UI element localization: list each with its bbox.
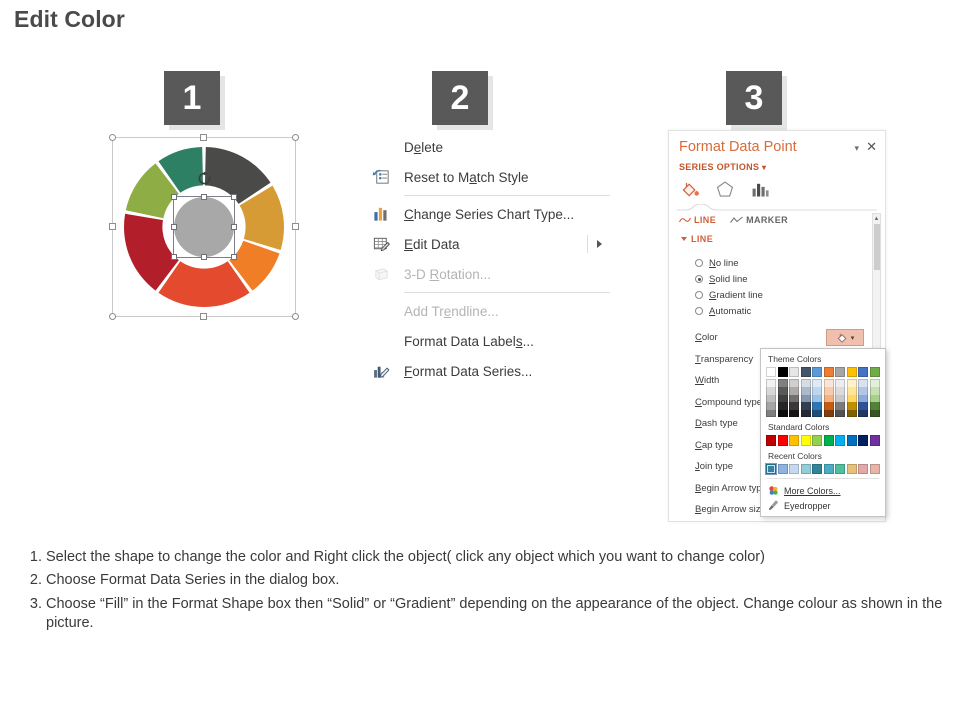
property-width: Width [695,370,767,392]
context-menu[interactable]: DeleteReset to Match StyleChange Series … [358,132,616,386]
color-swatch[interactable] [824,395,834,403]
instruction-item: Select the shape to change the color and… [46,548,946,567]
line-section-header[interactable]: LINE [681,234,713,244]
property-cap-type: Cap type [695,435,767,457]
color-swatch[interactable] [789,379,799,387]
color-swatch[interactable] [766,395,776,403]
selection-handle-middle-right[interactable] [292,223,299,230]
color-swatch[interactable] [801,379,811,387]
color-swatch[interactable] [847,379,857,387]
color-swatch[interactable] [870,395,880,403]
inner-handle-top-left[interactable] [171,194,177,200]
format-pane-tab-divider [677,204,877,211]
selection-handle-top-center[interactable] [200,134,207,141]
color-swatch[interactable] [835,410,845,418]
marker-tab-icon [730,216,743,224]
step-badge-2: 2 [432,71,488,125]
color-swatch[interactable] [847,435,857,445]
radio-gradient-line[interactable]: Gradient line [695,287,763,303]
color-swatch[interactable] [835,464,845,474]
instruction-item: Choose Format Data Series in the dialog … [46,571,946,590]
scroll-up-arrow[interactable]: ▲ [873,214,880,223]
color-swatch[interactable] [778,435,788,445]
tab-line[interactable]: LINE [679,215,716,225]
context-menu-item-label: Format Data Labels... [404,334,534,349]
inner-shape-selection [173,196,235,258]
reset-style-icon [372,168,391,187]
inner-handle-top-center[interactable] [201,194,207,200]
color-swatch[interactable] [778,379,788,387]
submenu-arrow-icon [597,240,602,248]
line-section-label: LINE [691,234,713,244]
format-pane-title: Format Data Point [679,139,797,155]
context-menu-item-add-trendline: Add Trendline... [358,296,616,326]
color-swatch[interactable] [801,464,811,474]
context-menu-item-label: Reset to Match Style [404,170,529,185]
color-swatch[interactable] [766,379,776,387]
submenu-divider [587,235,588,253]
color-swatch[interactable] [835,387,845,395]
rotation-3d-icon [372,265,391,284]
color-swatch[interactable] [847,410,857,418]
selection-handle-bottom-right[interactable] [292,313,299,320]
context-menu-item-label: Add Trendline... [404,304,499,319]
color-menu-divider [767,478,879,479]
color-swatch[interactable] [812,395,822,403]
color-swatch[interactable] [766,410,776,418]
color-swatch[interactable] [847,387,857,395]
chart-type-icon [372,205,391,224]
color-swatch[interactable] [778,387,788,395]
eyedropper-label: Eyedropper [784,501,831,511]
color-swatch[interactable] [766,402,776,410]
selection-handle-bottom-center[interactable] [200,313,207,320]
standard-colors-label: Standard Colors [766,417,880,435]
theme-colors-label: Theme Colors [766,353,880,367]
color-swatch[interactable] [858,395,868,403]
format-series-icon [372,362,391,381]
inner-handle-bottom-center[interactable] [201,254,207,260]
inner-handle-bottom-left[interactable] [171,254,177,260]
tab-line-label: LINE [694,215,716,225]
inner-handle-middle-left[interactable] [171,224,177,230]
theme-colors-shade-row[interactable] [766,387,880,395]
theme-colors-grid[interactable] [766,367,880,417]
color-swatch[interactable] [789,464,799,474]
context-menu-item-label: Edit Data [404,237,460,252]
color-swatch[interactable] [812,367,822,377]
instructions-list: Select the shape to change the color and… [14,548,946,633]
color-swatch[interactable] [858,435,868,445]
property-dash-type: Dash type [695,413,767,435]
selection-handle-top-right[interactable] [292,134,299,141]
rotate-handle-icon[interactable] [197,171,212,186]
color-swatch[interactable] [801,402,811,410]
context-menu-separator [404,292,610,293]
effects-pentagon-icon[interactable] [714,179,736,200]
step-badge-2-number: 2 [451,79,470,118]
color-swatch[interactable] [824,410,834,418]
color-swatch[interactable] [847,367,857,377]
color-swatch[interactable] [766,387,776,395]
color-swatch[interactable] [824,387,834,395]
color-swatch[interactable] [870,402,880,410]
color-swatch[interactable] [778,410,788,418]
color-swatch[interactable] [858,379,868,387]
property-begin-arrow-size: Begin Arrow size [695,499,767,521]
context-menu-item-delete[interactable]: Delete [358,132,616,162]
format-pane-tabs[interactable]: LINE MARKER [679,215,788,225]
radio-automatic[interactable]: Automatic [695,303,763,319]
property-begin-arrow-type: Begin Arrow type [695,478,767,500]
tab-marker-label: MARKER [746,215,788,225]
more-colors-icon [768,485,779,496]
context-menu-item-label: 3-D Rotation... [404,267,491,282]
more-colors-item[interactable]: More Colors... [766,483,880,498]
eyedropper-icon [768,500,779,511]
line-style-radio-group[interactable]: No lineSolid lineGradient lineAutomatic [695,255,763,319]
color-swatch[interactable] [778,464,788,474]
color-swatch[interactable] [870,387,880,395]
color-swatch[interactable] [801,387,811,395]
context-menu-item-label: Format Data Series... [404,364,532,379]
line-tab-icon [679,216,691,224]
color-button-caret-icon[interactable]: ▾ [851,334,855,342]
inner-handle-top-right[interactable] [231,194,237,200]
color-swatch[interactable] [835,435,845,445]
color-swatch[interactable] [858,367,868,377]
color-swatch[interactable] [778,395,788,403]
color-swatch[interactable] [801,367,811,377]
color-swatch[interactable] [812,410,822,418]
color-swatch[interactable] [824,435,834,445]
radio-label: Automatic [709,306,751,317]
radio-label: Gradient line [709,290,763,301]
color-swatch[interactable] [824,464,834,474]
radio-indicator[interactable] [695,275,703,283]
format-pane-icon-row[interactable] [679,179,771,200]
color-swatch[interactable] [789,435,799,445]
radio-solid-line[interactable]: Solid line [695,271,763,287]
edit-data-icon [372,235,391,254]
color-swatch[interactable] [835,402,845,410]
radio-label: Solid line [709,274,748,285]
color-swatch[interactable] [812,435,822,445]
color-swatch[interactable] [801,410,811,418]
series-options-dropdown[interactable]: SERIES OPTIONS ▾ [679,162,766,172]
color-swatch[interactable] [847,464,857,474]
radio-label: No line [709,258,739,269]
color-swatch[interactable] [766,464,776,474]
color-swatch[interactable] [766,435,776,445]
color-swatch[interactable] [789,402,799,410]
context-menu-item-change-series-chart-type[interactable]: Change Series Chart Type... [358,199,616,229]
color-swatch[interactable] [858,410,868,418]
theme-colors-shade-row[interactable] [766,395,880,403]
context-menu-item-reset-to-match-style[interactable]: Reset to Match Style [358,162,616,192]
theme-colors-shade-row[interactable] [766,402,880,410]
color-swatch[interactable] [812,402,822,410]
step-badge-3: 3 [726,71,782,125]
eyedropper-item[interactable]: Eyedropper [766,498,880,513]
step-badge-1: 1 [164,71,220,125]
context-menu-item-3-d-rotation: 3-D Rotation... [358,259,616,289]
color-swatch-button[interactable]: ▾ [826,329,864,346]
color-swatch[interactable] [812,387,822,395]
step-badge-3-number: 3 [745,79,764,118]
series-options-caret-icon: ▾ [762,163,766,172]
color-swatch[interactable] [801,435,811,445]
context-menu-item-edit-data[interactable]: Edit Data [358,229,616,259]
color-swatch[interactable] [824,367,834,377]
series-options-label: SERIES OPTIONS [679,162,759,172]
context-menu-item-label: Delete [404,140,443,155]
radio-no-line[interactable]: No line [695,255,763,271]
color-swatch[interactable] [858,464,868,474]
color-swatch[interactable] [789,387,799,395]
more-colors-label: More Colors... [784,486,841,496]
color-swatch[interactable] [812,379,822,387]
color-swatch[interactable] [812,464,822,474]
tab-marker[interactable]: MARKER [730,215,788,225]
context-menu-separator [404,195,610,196]
property-color: Color [695,327,767,349]
context-menu-item-format-data-labels[interactable]: Format Data Labels... [358,326,616,356]
format-pane-collapse-icon[interactable]: ▾ [854,143,859,154]
color-swatch[interactable] [835,379,845,387]
color-swatch[interactable] [835,367,845,377]
size-properties-chart-icon[interactable] [749,179,771,200]
property-transparency: Transparency [695,349,767,371]
radio-indicator[interactable] [695,307,703,315]
color-swatch[interactable] [847,395,857,403]
color-swatch[interactable] [766,367,776,377]
page-title: Edit Color [14,6,125,33]
color-swatch[interactable] [801,395,811,403]
color-swatch[interactable] [870,379,880,387]
selection-handle-top-left[interactable] [109,134,116,141]
color-swatch[interactable] [824,402,834,410]
recent-colors-label: Recent Colors [766,446,880,464]
color-swatch[interactable] [789,367,799,377]
color-swatch[interactable] [870,464,880,474]
context-menu-item-label: Change Series Chart Type... [404,207,574,222]
context-menu-item-format-data-series[interactable]: Format Data Series... [358,356,616,386]
color-swatch[interactable] [778,402,788,410]
color-picker-menu[interactable]: Theme Colors Standard Colors Recent Colo… [760,348,886,517]
selection-handle-middle-left[interactable] [109,223,116,230]
color-swatch[interactable] [870,367,880,377]
color-bucket-icon [836,332,849,344]
line-properties-list: ColorTransparencyWidthCompound typeDash … [695,327,767,521]
format-pane-close-icon[interactable]: ✕ [866,139,877,155]
standard-colors-row[interactable] [766,435,880,445]
color-swatch[interactable] [858,387,868,395]
inner-handle-bottom-right[interactable] [231,254,237,260]
recent-colors-row[interactable] [766,464,880,474]
theme-colors-base-row[interactable] [766,367,880,377]
color-swatch[interactable] [870,435,880,445]
theme-colors-shade-row[interactable] [766,410,880,418]
color-swatch[interactable] [824,379,834,387]
selection-handle-bottom-left[interactable] [109,313,116,320]
step-badge-1-number: 1 [183,79,202,118]
color-swatch[interactable] [835,395,845,403]
scrollbar-thumb[interactable] [874,224,880,270]
instruction-item: Choose “Fill” in the Format Shape box th… [46,595,946,634]
theme-colors-shade-row[interactable] [766,379,880,387]
color-swatch[interactable] [870,410,880,418]
instructions-block: Select the shape to change the color and… [14,548,946,637]
fill-bucket-icon[interactable] [679,179,701,200]
property-join-type: Join type [695,456,767,478]
color-swatch[interactable] [778,367,788,377]
color-swatch[interactable] [789,395,799,403]
radio-indicator[interactable] [695,291,703,299]
inner-handle-middle-right[interactable] [231,224,237,230]
color-swatch[interactable] [858,402,868,410]
property-compound-type: Compound type [695,392,767,414]
radio-indicator[interactable] [695,259,703,267]
section-collapse-icon [681,237,687,241]
color-swatch[interactable] [789,410,799,418]
chart-panel[interactable] [112,137,296,317]
color-swatch[interactable] [847,402,857,410]
